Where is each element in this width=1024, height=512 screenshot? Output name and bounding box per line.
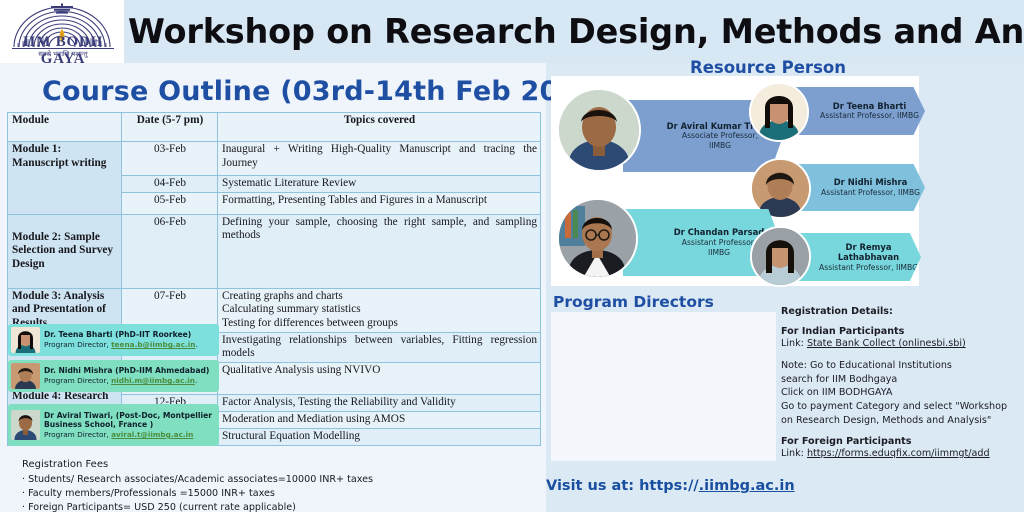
resource-person-title: Resource Person: [690, 58, 846, 77]
page-title: Workshop on Research Design, Methods and…: [128, 4, 1018, 59]
topic-cell: Moderation and Mediation using AMOS: [218, 411, 541, 428]
program-director-role: Program Director, teena.b@iimbg.ac.in.: [44, 340, 216, 349]
fee-line: · Students/ Research associates/Academic…: [22, 473, 373, 487]
program-director-role-prefix: Program Director,: [44, 376, 111, 385]
program-director-email[interactable]: teena.b@iimbg.ac.in: [111, 340, 195, 349]
foreign-participants-heading: For Foreign Participants: [781, 436, 1021, 447]
program-director-name: Dr. Teena Bharti (PhD-IIT Roorkee): [44, 330, 216, 339]
topic-cell: Systematic Literature Review: [218, 176, 541, 193]
date-cell: 05-Feb: [122, 192, 218, 214]
note-line: on Research Design, Methods and Analysis…: [781, 414, 1021, 428]
visit-us-prefix: Visit us at: https://: [546, 478, 699, 494]
program-director-email[interactable]: nidhi.m@iimbg.ac.in: [111, 376, 195, 385]
avatar-aviral-tiwari-small: [11, 410, 40, 440]
avatar-nidhi-mishra-small: [11, 363, 40, 389]
panel-bottom-strip: [551, 458, 776, 461]
table-header-row: Module Date (5-7 pm) Topics covered: [8, 113, 541, 142]
col-header-module: Module: [8, 113, 122, 142]
avatar-teena-bharti-small: [11, 327, 40, 353]
resource-person-role: Assistant Professor, IIMBG: [821, 188, 920, 198]
program-director-card: Dr Aviral Tiwari, (Post-Doc, Montpellier…: [8, 404, 219, 446]
topic-cell: Structural Equation Modelling: [218, 428, 541, 445]
eduqfix-form-link[interactable]: https://forms.eduqfix.com/iimmgt/add: [807, 448, 990, 459]
state-bank-collect-link[interactable]: State Bank Collect (onlinesbi.sbi): [807, 338, 966, 349]
program-director-text: Dr. Teena Bharti (PhD-IIT Roorkee) Progr…: [44, 330, 219, 350]
avatar-teena-bharti: [749, 82, 809, 142]
topic-cell: Formatting, Presenting Tables and Figure…: [218, 192, 541, 214]
topic-cell: Investigating relationships between vari…: [218, 332, 541, 362]
date-cell: 03-Feb: [122, 142, 218, 176]
col-header-date: Date (5-7 pm): [122, 113, 218, 142]
resource-person-role: Assistant Professor, IIMBG: [682, 238, 757, 258]
program-director-role: Program Director, aviral.t@iimbg.ac.in: [44, 430, 216, 439]
fee-line: · Faculty members/Professionals =15000 I…: [22, 487, 373, 501]
table-row: Module 1: Manuscript writing03-FebInaugu…: [8, 142, 541, 176]
topic-cell: Qualitative Analysis using NVIVO: [218, 362, 541, 394]
registration-fees-title: Registration Fees: [22, 459, 373, 470]
resource-person-name: Dr Remya Lathabhavan: [816, 242, 921, 263]
program-directors-panel: [551, 312, 776, 458]
avatar-aviral-kumar-tiwari: [557, 88, 641, 172]
course-outline-title: Course Outline (03rd-14th Feb 2025): [42, 76, 609, 107]
program-director-card: Dr. Nidhi Mishra (PhD-IIM Ahmedabad) Pro…: [8, 360, 219, 392]
program-director-role: Program Director, nidhi.m@iimbg.ac.in.: [44, 376, 216, 385]
program-director-role-prefix: Program Director,: [44, 430, 111, 439]
resource-person-role: Assistant Professor, IIMBG: [819, 263, 918, 273]
visit-us-line: Visit us at: https://.iimbg.ac.in: [546, 478, 795, 494]
program-directors-title: Program Directors: [553, 293, 714, 311]
table-row: Module 2: Sample Selection and Survey De…: [8, 214, 541, 288]
registration-details-block: Registration Details: For Indian Partici…: [781, 306, 1021, 461]
resource-person-name: Dr Teena Bharti: [833, 101, 907, 112]
col-header-topics: Topics covered: [218, 113, 541, 142]
program-director-role-suffix: .: [195, 376, 197, 385]
link-label: Link:: [781, 338, 807, 349]
poster-root: IIM BODH GAYA सबसे भद्राणि पश्यन्तु Work…: [0, 0, 1024, 512]
module-cell: Module 2: Sample Selection and Survey De…: [8, 214, 122, 288]
program-director-role-prefix: Program Director,: [44, 340, 111, 349]
topic-line: Testing for differences between groups: [222, 317, 537, 331]
fee-line: · Foreign Participants= USD 250 (current…: [22, 501, 373, 512]
program-director-text: Dr. Nidhi Mishra (PhD-IIM Ahmedabad) Pro…: [44, 366, 219, 386]
program-director-name: Dr. Nidhi Mishra (PhD-IIM Ahmedabad): [44, 366, 216, 375]
resource-person-name: Dr Nidhi Mishra: [834, 177, 908, 188]
course-outline-table: Module Date (5-7 pm) Topics covered Modu…: [7, 112, 541, 446]
indian-participants-link-row: Link: State Bank Collect (onlinesbi.sbi): [781, 337, 1021, 351]
foreign-participants-link-row: Link: https://forms.eduqfix.com/iimmgt/a…: [781, 447, 1021, 461]
link-label: Link:: [781, 448, 807, 459]
topic-line: Creating graphs and charts: [222, 290, 537, 304]
note-line: Note: Go to Educational Institutions: [781, 359, 1021, 373]
topic-cell: Factor Analysis, Testing the Reliability…: [218, 394, 541, 411]
registration-fees-block: Registration Fees · Students/ Research a…: [22, 459, 373, 512]
resource-person-role: Assistant Professor, IIMBG: [820, 111, 919, 121]
topic-cell: Defining your sample, choosing the right…: [218, 214, 541, 288]
note-line: Go to payment Category and select "Works…: [781, 400, 1021, 414]
program-director-text: Dr Aviral Tiwari, (Post-Doc, Montpellier…: [44, 411, 219, 440]
module-cell: Module 1: Manuscript writing: [8, 142, 122, 215]
course-outline-table-wrap: Module Date (5-7 pm) Topics covered Modu…: [7, 112, 540, 446]
program-director-email[interactable]: aviral.t@iimbg.ac.in: [111, 430, 193, 439]
date-cell: 06-Feb: [122, 214, 218, 288]
topic-cell: Creating graphs and chartsCalculating su…: [218, 288, 541, 332]
registration-details-heading: Registration Details:: [781, 306, 1021, 317]
topic-cell: Inaugural + Writing High-Quality Manuscr…: [218, 142, 541, 176]
website-link[interactable]: .iimbg.ac.in: [699, 478, 795, 494]
logo-rule: [12, 48, 114, 49]
course-outline-body: Module 1: Manuscript writing03-FebInaugu…: [8, 142, 541, 446]
resource-person-role: Associate Professor, IIMBG: [682, 131, 758, 151]
avatar-remya-lathabhavan: [750, 226, 811, 287]
program-director-name: Dr Aviral Tiwari, (Post-Doc, Montpellier…: [44, 411, 216, 430]
program-director-role-suffix: .: [195, 340, 197, 349]
date-cell: 04-Feb: [122, 176, 218, 193]
logo-motto: सबसे भद्राणि पश्यन्तु: [4, 49, 122, 58]
note-line: Click on IIM BODHGAYA: [781, 386, 1021, 400]
avatar-chandan-parsad: [557, 198, 638, 279]
program-director-card: Dr. Teena Bharti (PhD-IIT Roorkee) Progr…: [8, 324, 219, 356]
topic-line: Calculating summary statistics: [222, 303, 537, 317]
indian-participants-heading: For Indian Participants: [781, 326, 1021, 337]
resource-person-name: Dr Chandan Parsad: [674, 227, 765, 238]
note-line: search for IIM Bodhgaya: [781, 373, 1021, 387]
